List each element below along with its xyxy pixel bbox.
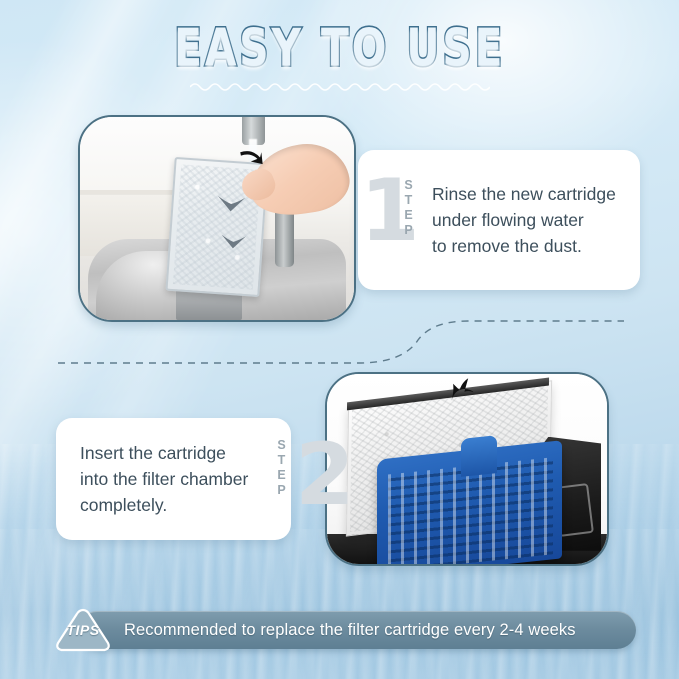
step-2-number: 2	[295, 432, 355, 518]
step-letter-p: P	[275, 483, 288, 498]
step-letter-s: S	[402, 178, 415, 193]
dashed-connector-line	[58, 316, 624, 374]
step-2-line-1: Insert the cartridge	[80, 440, 248, 466]
step-letter-e: E	[402, 208, 415, 223]
step-1-line-1: Rinse the new cartridge	[432, 181, 616, 207]
step-2-step-word: S T E P	[275, 438, 288, 498]
sink-scene	[80, 117, 354, 320]
tips-message: Recommended to replace the filter cartri…	[124, 607, 622, 653]
basket-handle-tab	[461, 435, 497, 477]
step-1-marker: 1 S T E P	[358, 150, 432, 290]
step-1-step-word: S T E P	[402, 178, 415, 238]
step-letter-t: T	[402, 193, 415, 208]
step-letter-t: T	[275, 453, 288, 468]
whale-silhouette-icon	[439, 374, 487, 406]
tips-bar: Recommended to replace the filter cartri…	[52, 607, 640, 653]
direction-arrow-icon	[233, 147, 269, 173]
step-letter-e: E	[275, 468, 288, 483]
step-letter-p: P	[402, 223, 415, 238]
step-1-text-card: 1 S T E P Rinse the new cartridge under …	[358, 150, 640, 290]
whale-tail-graphic-2	[206, 231, 262, 251]
step-2-marker: S T E P 2	[269, 418, 343, 540]
step-1-line-2: under flowing water	[432, 207, 616, 233]
page-title: EASY TO USE	[174, 18, 505, 78]
tips-badge-label: TIPS	[52, 622, 114, 638]
filter-chamber-scene	[327, 374, 607, 564]
step-2-line-3: completely.	[80, 492, 248, 518]
tips-badge: TIPS	[52, 607, 114, 653]
step-letter-s: S	[275, 438, 288, 453]
step-1-description: Rinse the new cartridge under flowing wa…	[432, 181, 616, 259]
step-1-line-3: to remove the dust.	[432, 233, 616, 259]
infographic-poster: EASY TO USE	[0, 0, 679, 679]
step-1-photo	[78, 115, 356, 322]
step-2-line-2: into the filter chamber	[80, 466, 248, 492]
step-2-description: Insert the cartridge into the filter cha…	[80, 440, 248, 518]
wavy-underline-decoration	[190, 80, 490, 92]
title-block: EASY TO USE	[0, 18, 679, 67]
step-2-text-card: Insert the cartridge into the filter cha…	[56, 418, 291, 540]
step-2-photo	[325, 372, 609, 566]
